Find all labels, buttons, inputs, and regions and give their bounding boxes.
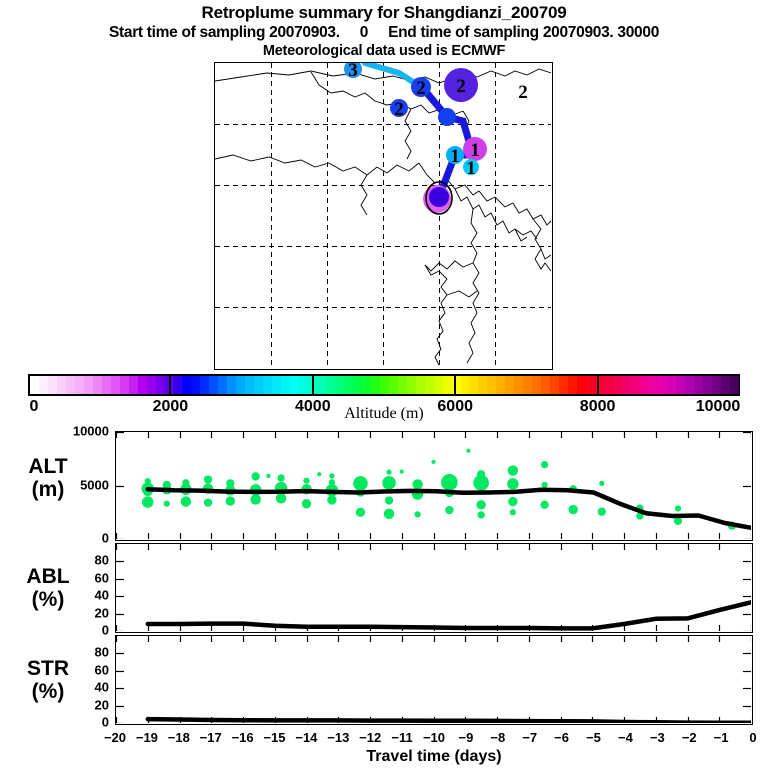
colorbar-cell-75: [703, 376, 712, 394]
colorbar-cell-70: [658, 376, 667, 394]
colorbar-strip: [28, 374, 740, 396]
str-ylabels-40: 40: [57, 680, 109, 695]
str-panel[interactable]: [115, 635, 753, 725]
alt-point-12: [204, 498, 212, 506]
colorbar-cell-29: [290, 376, 299, 394]
colorbar-cell-55: [523, 376, 532, 394]
colorbar-cell-78: [730, 376, 739, 394]
colorbar-cell-24: [245, 376, 254, 394]
alt-point-6: [164, 501, 170, 507]
map-marker-label-8: 2: [456, 76, 466, 97]
abl-panel[interactable]: [115, 543, 753, 633]
colorbar-cell-64: [604, 376, 613, 394]
colorbar-cell-12: [138, 376, 147, 394]
abl-ylabels-40: 40: [57, 588, 109, 603]
trajectory-markers: 011122232: [344, 63, 528, 214]
alt-point-48: [507, 478, 518, 489]
colorbar-cell-36: [353, 376, 362, 394]
x-axis-title: Travel time (days): [115, 748, 753, 766]
alt-ylabels-10000: 10000: [57, 424, 109, 439]
str-ylabels-80: 80: [57, 645, 109, 660]
alt-point-34: [385, 496, 393, 504]
x-tick--13: −13: [327, 730, 349, 745]
alt-point-47: [508, 465, 518, 475]
colorbar-cell-23: [236, 376, 245, 394]
alt-point-19: [277, 474, 284, 481]
colorbar-cell-38: [371, 376, 380, 394]
alt-point-38: [415, 511, 421, 517]
x-tick--2: −2: [682, 730, 697, 745]
colorbar-cell-11: [129, 376, 138, 394]
map-canvas: 011122232: [215, 63, 551, 368]
alt-point-57: [598, 508, 606, 516]
x-tick--8: −8: [490, 730, 505, 745]
colorbar-cell-28: [281, 376, 290, 394]
alt-point-55: [569, 505, 578, 514]
colorbar-cell-7: [93, 376, 102, 394]
map-marker-label-6: 2: [416, 78, 426, 99]
colorbar-cell-77: [721, 376, 730, 394]
colorbar-cell-14: [156, 376, 165, 394]
x-tick--12: −12: [359, 730, 381, 745]
colorbar-cell-4: [66, 376, 75, 394]
colorbar-cell-2: [48, 376, 57, 394]
alt-point-31: [356, 508, 365, 517]
colorbar-cell-16: [174, 376, 183, 394]
x-tick--20: −20: [104, 730, 126, 745]
alt-point-25: [329, 473, 334, 478]
x-tick--3: −3: [650, 730, 665, 745]
colorbar-cell-68: [640, 376, 649, 394]
colorbar-cell-66: [622, 376, 631, 394]
map-gridlines: [215, 63, 551, 368]
colorbar-cell-57: [541, 376, 550, 394]
x-tick--1: −1: [714, 730, 729, 745]
colorbar-cell-19: [200, 376, 209, 394]
alt-point-66: [317, 472, 321, 476]
colorbar-cell-53: [505, 376, 514, 394]
colorbar-cell-69: [649, 376, 658, 394]
colorbar-cell-41: [398, 376, 407, 394]
map-marker-1[interactable]: [429, 187, 449, 207]
abl-ylabels-0: 0: [57, 623, 109, 638]
colorbar-cell-46: [443, 376, 452, 394]
colorbar-cell-35: [344, 376, 353, 394]
trajectory-map[interactable]: 011122232: [214, 62, 553, 370]
abl-plot-canvas: [116, 544, 751, 631]
colorbar-cell-59: [559, 376, 568, 394]
x-tick--14: −14: [295, 730, 317, 745]
alt-point-15: [226, 496, 235, 505]
colorbar-cell-62: [586, 376, 595, 394]
alt-point-21: [276, 493, 286, 503]
alt-point-36: [412, 479, 422, 489]
colorbar-cell-65: [613, 376, 622, 394]
altitude-colorbar[interactable]: 0200040006000800010000: [28, 374, 740, 396]
x-tick--19: −19: [136, 730, 158, 745]
alt-plot-canvas: [116, 432, 751, 539]
str-series-line: [148, 719, 751, 723]
alt-point-22: [303, 478, 309, 484]
map-marker-label-2: 1: [450, 146, 460, 167]
str-y-ticks: [116, 654, 751, 724]
x-tick--15: −15: [263, 730, 285, 745]
sampling-time-line: Start time of sampling 20070903. 0 End t…: [0, 23, 768, 42]
colorbar-cell-17: [182, 376, 191, 394]
colorbar-cell-54: [514, 376, 523, 394]
alt-point-44: [473, 475, 489, 491]
map-marker-label-9: 3: [348, 63, 358, 81]
abl-series-line: [148, 602, 751, 628]
x-tick--4: −4: [618, 730, 633, 745]
alt-point-10: [204, 475, 212, 483]
alt-panel[interactable]: [115, 431, 753, 541]
x-tick--17: −17: [200, 730, 222, 745]
colorbar-cell-37: [362, 376, 371, 394]
colorbar-cell-52: [496, 376, 505, 394]
colorbar-cell-18: [191, 376, 200, 394]
x-tick--9: −9: [458, 730, 473, 745]
alt-point-46: [477, 511, 484, 518]
colorbar-divider-2000: [169, 374, 171, 396]
page-title: Retroplume summary for Shangdianzi_20070…: [0, 3, 768, 23]
colorbar-cell-33: [326, 376, 335, 394]
colorbar-cell-30: [299, 376, 308, 394]
alt-ylabels-0: 0: [57, 531, 109, 546]
colorbar-cell-25: [254, 376, 263, 394]
str-x-ticks: [117, 636, 752, 723]
colorbar-cell-6: [84, 376, 93, 394]
alt-point-45: [476, 500, 485, 509]
colorbar-cell-42: [407, 376, 416, 394]
alt-point-53: [540, 501, 548, 509]
alt-point-35: [384, 509, 394, 519]
alt-point-60: [675, 505, 681, 511]
x-tick--16: −16: [232, 730, 254, 745]
colorbar-cell-45: [434, 376, 443, 394]
alt-point-65: [400, 470, 404, 474]
colorbar-cell-72: [676, 376, 685, 394]
colorbar-cell-49: [469, 376, 478, 394]
abl-ylabels-80: 80: [57, 553, 109, 568]
x-tick--6: −6: [554, 730, 569, 745]
colorbar-title: Altitude (m): [0, 405, 768, 423]
map-marker-5[interactable]: [438, 108, 456, 126]
abl-ylabels-20: 20: [57, 605, 109, 620]
colorbar-cell-9: [111, 376, 120, 394]
colorbar-cell-76: [712, 376, 721, 394]
colorbar-cell-3: [57, 376, 66, 394]
alt-point-28: [327, 495, 336, 504]
colorbar-cell-10: [120, 376, 129, 394]
meteorological-data-line: Meteorological data used is ECMWF: [0, 42, 768, 60]
x-tick-0: 0: [749, 730, 756, 745]
alt-point-67: [266, 474, 270, 478]
colorbar-cell-71: [667, 376, 676, 394]
x-tick--11: −11: [391, 730, 412, 745]
colorbar-cell-50: [478, 376, 487, 394]
colorbar-cell-8: [102, 376, 111, 394]
str-ylabels-60: 60: [57, 662, 109, 677]
colorbar-cell-20: [209, 376, 218, 394]
colorbar-cell-40: [389, 376, 398, 394]
colorbar-cell-73: [685, 376, 694, 394]
colorbar-cell-13: [147, 376, 156, 394]
colorbar-cell-1: [39, 376, 48, 394]
colorbar-cell-44: [425, 376, 434, 394]
colorbar-cell-48: [461, 376, 470, 394]
colorbar-cell-61: [577, 376, 586, 394]
colorbar-cell-74: [694, 376, 703, 394]
colorbar-cell-58: [550, 376, 559, 394]
alt-label-line1: ALT: [8, 455, 88, 478]
colorbar-cell-26: [263, 376, 272, 394]
colorbar-cell-27: [272, 376, 281, 394]
colorbar-cell-67: [631, 376, 640, 394]
x-tick--7: −7: [522, 730, 537, 745]
colorbar-cell-0: [30, 376, 39, 394]
map-frame: 011122232: [214, 62, 553, 370]
alt-ylabels-5000: 5000: [57, 477, 109, 492]
alt-point-49: [508, 497, 517, 506]
alt-point-32: [386, 470, 391, 475]
alt-point-64: [431, 460, 435, 464]
str-ylabels-20: 20: [57, 697, 109, 712]
colorbar-cell-21: [218, 376, 227, 394]
colorbar-cell-39: [380, 376, 389, 394]
colorbar-cell-60: [568, 376, 577, 394]
alt-point-33: [382, 476, 396, 490]
alt-point-52: [542, 482, 548, 488]
alt-point-42: [445, 506, 453, 514]
map-marker-label-7: 2: [394, 99, 404, 120]
colorbar-cell-5: [75, 376, 84, 394]
colorbar-cell-51: [487, 376, 496, 394]
alt-point-9: [181, 496, 191, 506]
alt-point-50: [510, 509, 516, 515]
alt-point-18: [251, 494, 261, 504]
colorbar-cell-32: [317, 376, 326, 394]
colorbar-cell-22: [227, 376, 236, 394]
map-marker-label-4: 1: [466, 158, 476, 179]
alt-point-63: [466, 449, 470, 453]
x-tick--18: −18: [168, 730, 190, 745]
x-tick--10: −10: [423, 730, 445, 745]
colorbar-cell-56: [532, 376, 541, 394]
colorbar-divider-6000: [454, 374, 456, 396]
colorbar-divider-8000: [597, 374, 599, 396]
colorbar-cell-34: [335, 376, 344, 394]
alt-point-24: [302, 499, 311, 508]
alt-point-3: [142, 496, 153, 507]
colorbar-cell-43: [416, 376, 425, 394]
retroplume-summary-figure: Retroplume summary for Shangdianzi_20070…: [0, 0, 768, 768]
alt-point-56: [599, 481, 604, 486]
str-ylabels-0: 0: [57, 715, 109, 730]
alt-point-51: [541, 461, 548, 468]
str-plot-canvas: [116, 636, 751, 723]
alt-point-16: [252, 472, 260, 480]
map-marker-label-10: 2: [518, 82, 528, 103]
figure-header: Retroplume summary for Shangdianzi_20070…: [0, 0, 768, 60]
colorbar-divider-4000: [312, 374, 314, 396]
abl-ylabels-60: 60: [57, 570, 109, 585]
x-tick--5: −5: [586, 730, 601, 745]
